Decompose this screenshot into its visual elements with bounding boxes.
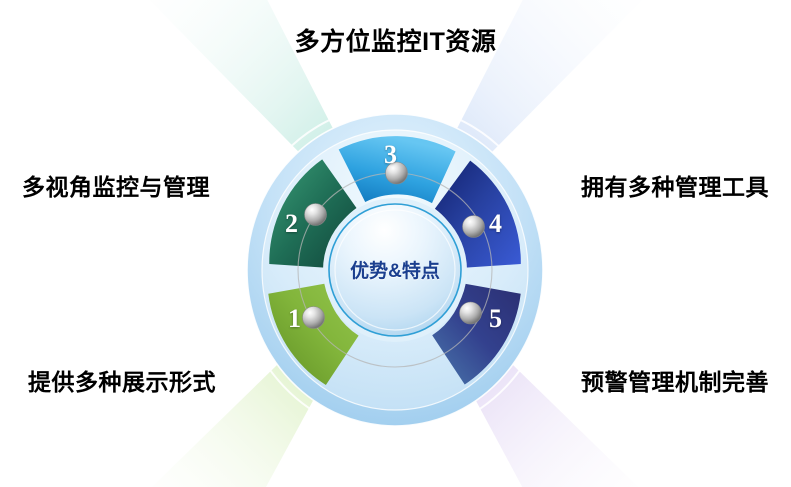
wheel-diagram <box>0 0 791 487</box>
label-right-top: 拥有多种管理工具 <box>581 168 769 202</box>
diagram-canvas: 1 2 3 4 5 优势&特点 多方位监控IT资源 多视角监控与管理 拥有多种管… <box>0 0 791 487</box>
label-left-bottom: 提供多种展示形式 <box>28 363 216 397</box>
center-title: 优势&特点 <box>335 256 455 283</box>
label-left-top: 多视角监控与管理 <box>22 168 210 202</box>
silver-sphere-marker-4[interactable] <box>463 216 485 238</box>
silver-sphere-marker-1[interactable] <box>303 307 325 329</box>
label-right-bottom: 预警管理机制完善 <box>581 363 769 397</box>
silver-sphere-marker-5[interactable] <box>460 302 482 324</box>
silver-sphere-marker-2[interactable] <box>305 204 327 226</box>
label-top-monitoring: 多方位监控IT资源 <box>0 22 791 58</box>
silver-sphere-marker-3[interactable] <box>386 162 408 184</box>
